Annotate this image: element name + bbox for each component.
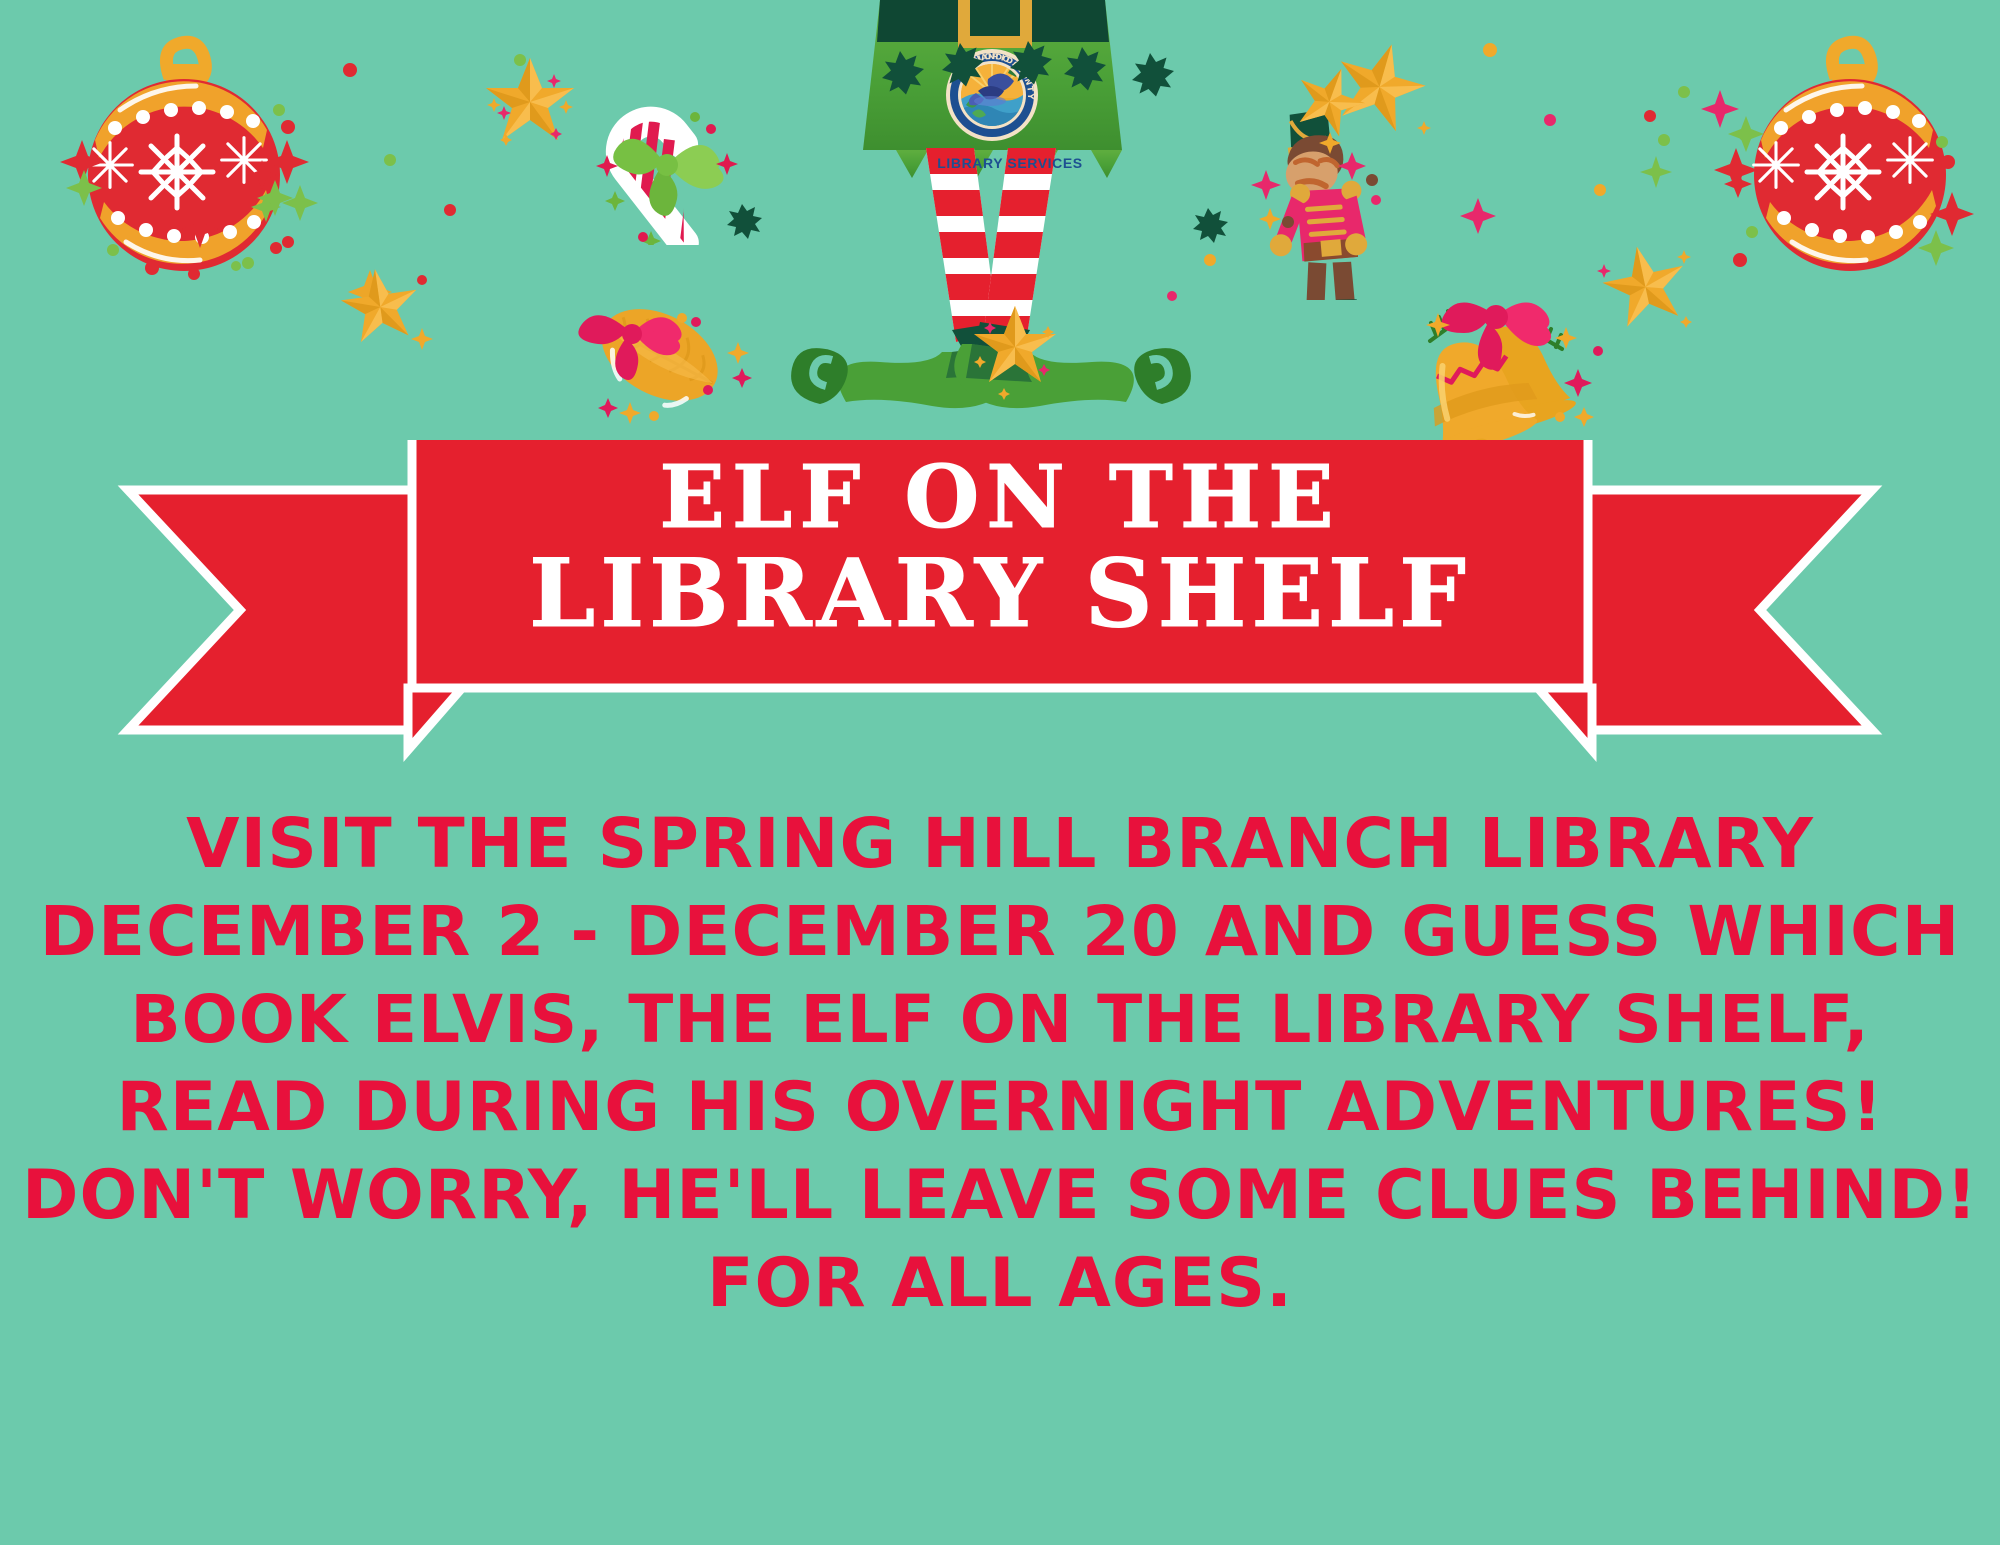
- banner-right-tail: [1582, 490, 1872, 730]
- poster-canvas: H E R N A N D O C O U N T Y F L O: [0, 0, 2000, 1545]
- body-copy: VISIT THE SPRING HILL BRANCH LIBRARY DEC…: [20, 800, 1980, 1328]
- body-line-5: DON'T WORRY, HE'LL LEAVE SOME CLUES BEHI…: [20, 1152, 1980, 1240]
- scatter-dots-icon: [0, 0, 2000, 440]
- banner-right-fold: [1538, 688, 1592, 750]
- banner-main-panel: [412, 440, 1588, 688]
- body-line-3: BOOK ELVIS, THE ELF ON THE LIBRARY SHELF…: [20, 976, 1980, 1064]
- body-line-6: FOR ALL AGES.: [20, 1240, 1980, 1328]
- body-line-1: VISIT THE SPRING HILL BRANCH LIBRARY: [20, 800, 1980, 888]
- banner-left-fold: [408, 688, 462, 750]
- title-banner: [0, 440, 2000, 780]
- library-services-label: LIBRARY SERVICES: [930, 155, 1090, 171]
- body-line-4: READ DURING HIS OVERNIGHT ADVENTURES!: [20, 1064, 1980, 1152]
- body-line-2: DECEMBER 2 - DECEMBER 20 AND GUESS WHICH: [20, 888, 1980, 976]
- banner-left-tail: [128, 490, 418, 730]
